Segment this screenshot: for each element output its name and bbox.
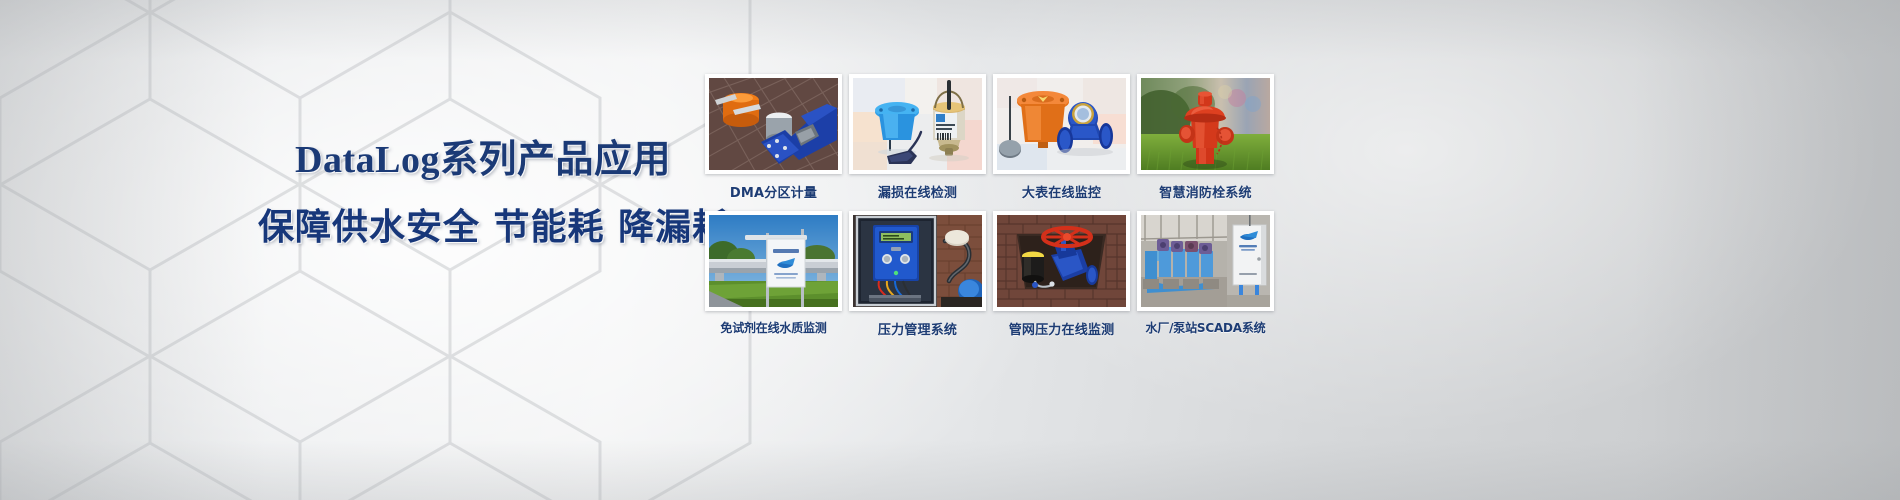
product-card[interactable]: 压力管理系统 [849, 211, 986, 338]
product-card[interactable]: 水厂/泵站SCADA系统 [1137, 211, 1274, 338]
smart-hydrant-image[interactable] [1137, 74, 1274, 174]
product-card-caption: 大表在线监控 [993, 182, 1130, 201]
product-card[interactable]: DMA分区计量 [705, 74, 842, 201]
hexagon-watermark-pattern [0, 0, 770, 500]
product-card-caption: DMA分区计量 [705, 182, 842, 201]
scada-system-image[interactable] [1137, 211, 1274, 311]
product-card[interactable]: 智慧消防栓系统 [1137, 74, 1274, 201]
product-card-caption: 管网压力在线监测 [993, 319, 1130, 338]
leak-detection-image[interactable] [849, 74, 986, 174]
promo-banner: DataLog系列产品应用 保障供水安全 节能耗 降漏耗 [0, 0, 1900, 500]
product-card[interactable]: 管网压力在线监测 [993, 211, 1130, 338]
product-card-caption: 免试剂在线水质监测 [705, 319, 842, 336]
product-card[interactable]: 漏损在线检测 [849, 74, 986, 201]
product-card-grid: DMA分区计量 [705, 74, 1274, 338]
dma-metering-image[interactable] [705, 74, 842, 174]
headline-block: DataLog系列产品应用 保障供水安全 节能耗 降漏耗 [258, 140, 708, 247]
large-meter-monitor-image[interactable] [993, 74, 1130, 174]
product-card-caption: 智慧消防栓系统 [1137, 182, 1274, 201]
product-card-caption: 压力管理系统 [849, 319, 986, 338]
product-card[interactable]: 大表在线监控 [993, 74, 1130, 201]
pressure-management-image[interactable] [849, 211, 986, 311]
headline-line-2: 保障供水安全 节能耗 降漏耗 [258, 208, 708, 248]
product-card-caption: 水厂/泵站SCADA系统 [1137, 319, 1274, 336]
network-pressure-image[interactable] [993, 211, 1130, 311]
reagentless-quality-image[interactable] [705, 211, 842, 311]
product-card-caption: 漏损在线检测 [849, 182, 986, 201]
product-card[interactable]: 免试剂在线水质监测 [705, 211, 842, 338]
headline-line-1: DataLog系列产品应用 [258, 140, 708, 182]
